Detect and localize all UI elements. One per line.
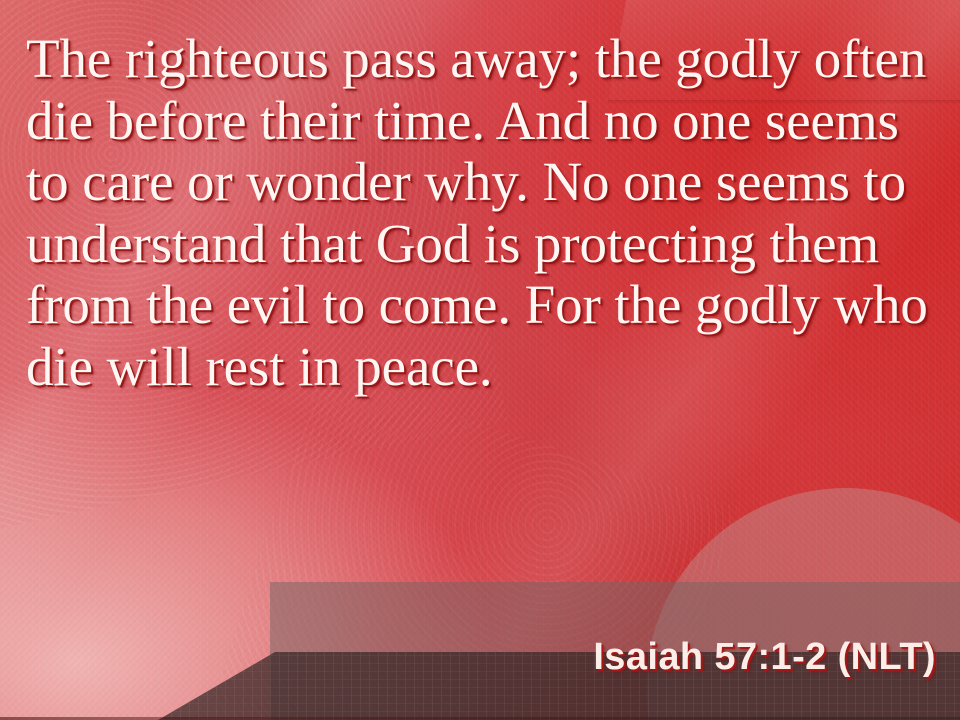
scripture-quote-text: The righteous pass away; the godly often… — [26, 28, 938, 397]
scripture-reference: Isaiah 57:1-2 (NLT) — [593, 636, 936, 679]
scripture-slide: The righteous pass away; the godly often… — [0, 0, 960, 720]
